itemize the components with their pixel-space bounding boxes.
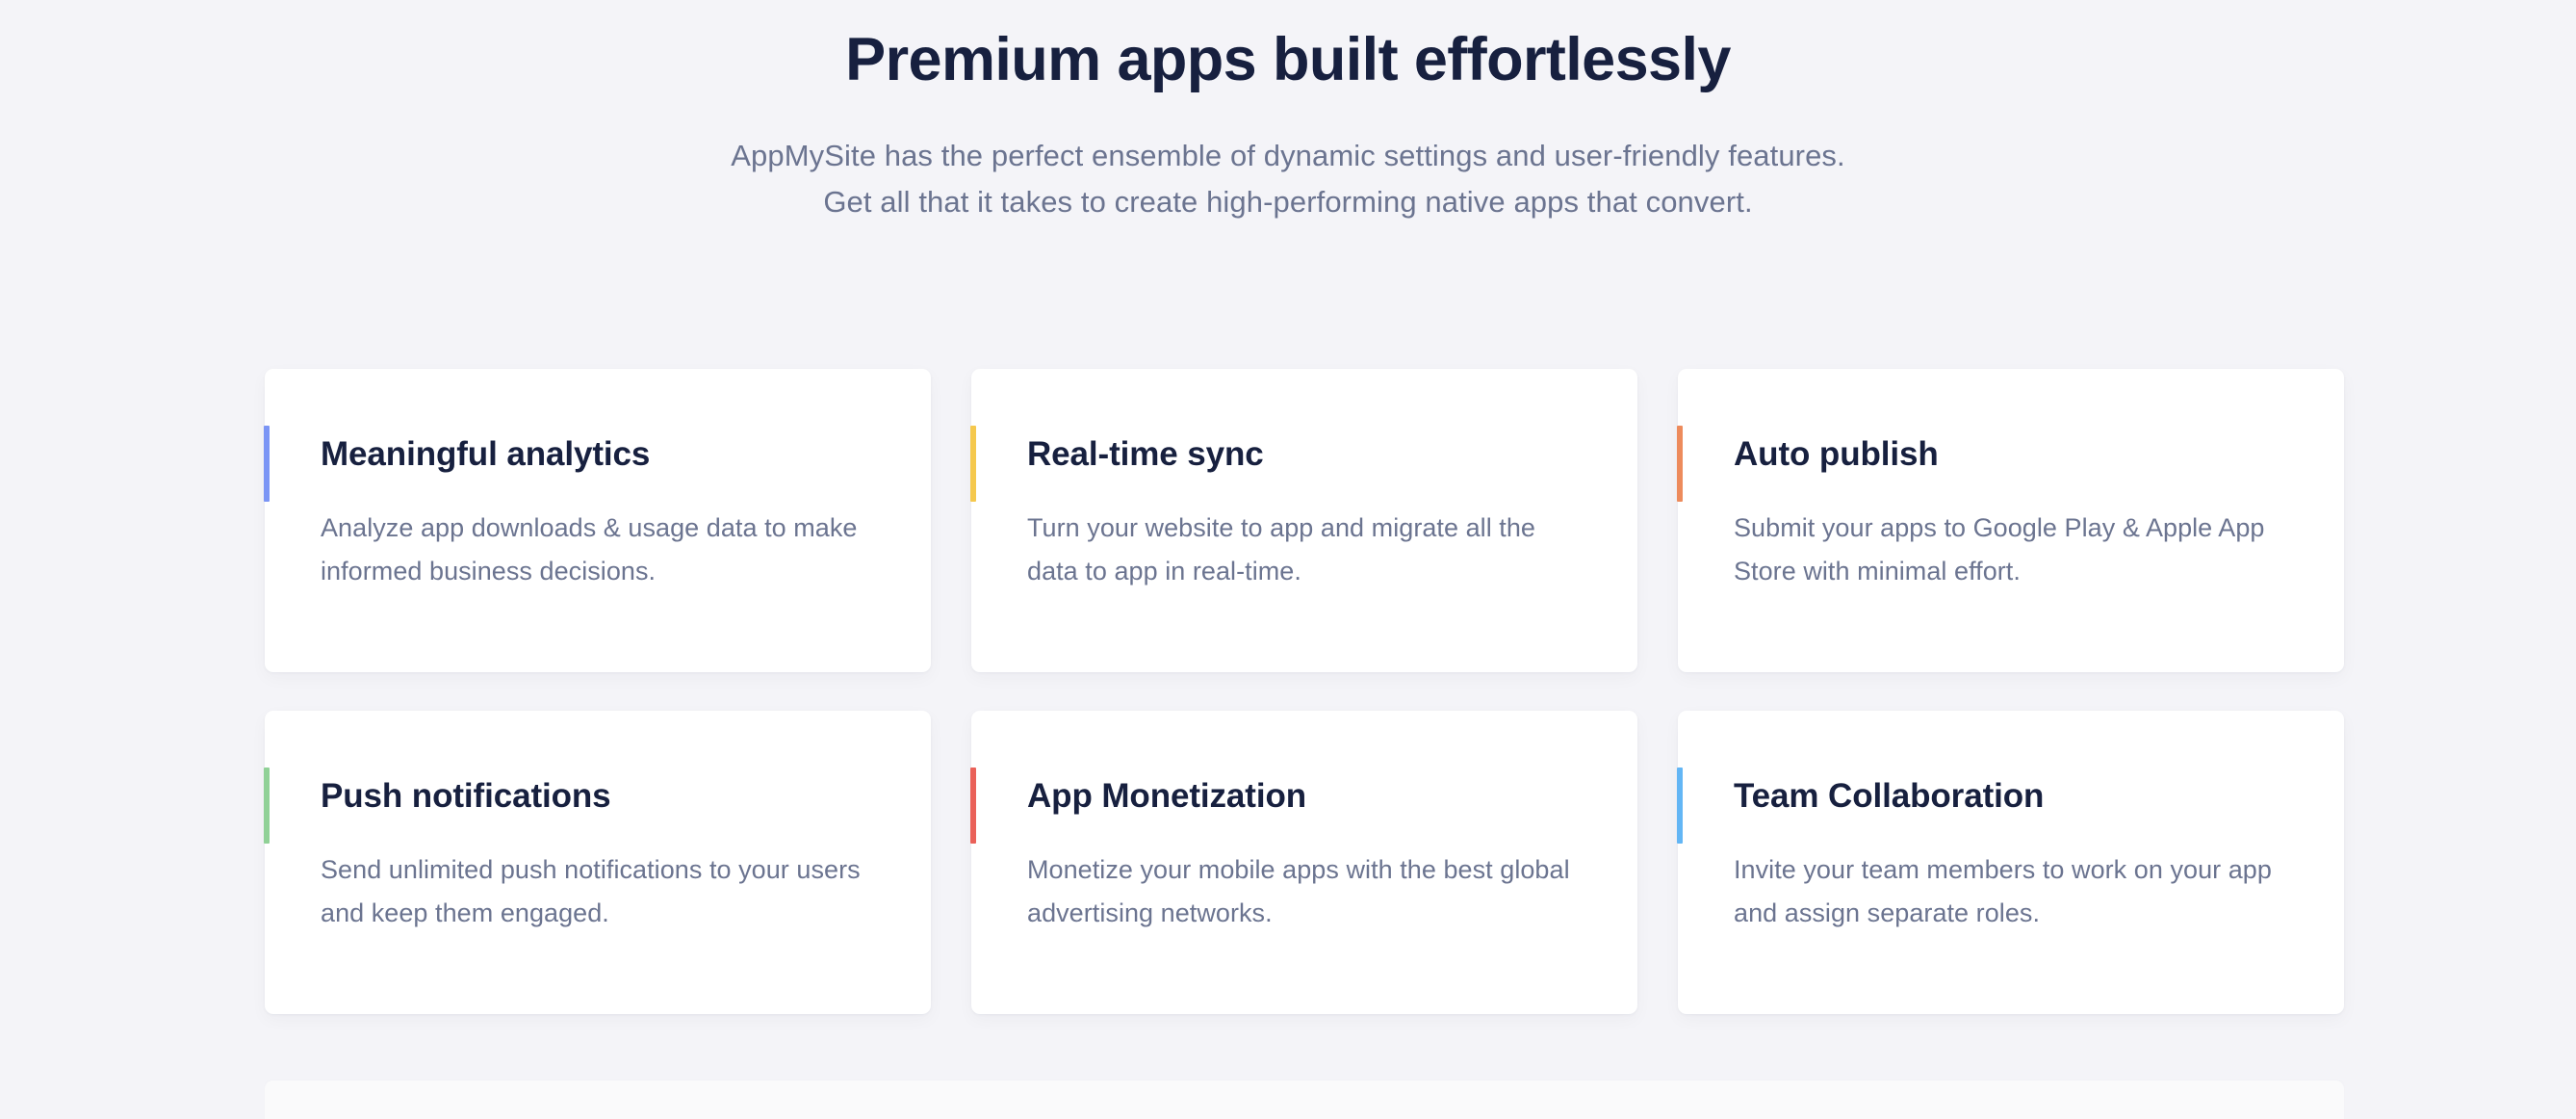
feature-card-title: Real-time sync bbox=[1027, 434, 1578, 475]
feature-card-title: Team Collaboration bbox=[1734, 776, 2284, 817]
feature-card-description: Invite your team members to work on your… bbox=[1734, 848, 2284, 935]
accent-bar-icon bbox=[264, 768, 270, 844]
page-subtitle: AppMySite has the perfect ensemble of dy… bbox=[0, 133, 2576, 223]
feature-card-meaningful-analytics[interactable]: Meaningful analytics Analyze app downloa… bbox=[265, 369, 931, 672]
section-header: Premium apps built effortlessly AppMySit… bbox=[0, 0, 2576, 224]
feature-card-description: Turn your website to app and migrate all… bbox=[1027, 507, 1578, 593]
feature-cards-grid: Meaningful analytics Analyze app downloa… bbox=[265, 369, 2344, 1014]
feature-card-description: Analyze app downloads & usage data to ma… bbox=[321, 507, 871, 593]
subtitle-line-1: AppMySite has the perfect ensemble of dy… bbox=[0, 133, 2576, 178]
page-title: Premium apps built effortlessly bbox=[0, 25, 2576, 94]
feature-card-title: Push notifications bbox=[321, 776, 871, 817]
feature-card-description: Submit your apps to Google Play & Apple … bbox=[1734, 507, 2284, 593]
subtitle-line-2: Get all that it takes to create high-per… bbox=[0, 179, 2576, 224]
accent-bar-icon bbox=[264, 426, 270, 502]
feature-card-title: App Monetization bbox=[1027, 776, 1578, 817]
accent-bar-icon bbox=[1677, 426, 1683, 502]
accent-bar-icon bbox=[1677, 768, 1683, 844]
feature-card-description: Send unlimited push notifications to you… bbox=[321, 848, 871, 935]
feature-card-app-monetization[interactable]: App Monetization Monetize your mobile ap… bbox=[971, 711, 1637, 1014]
accent-bar-icon bbox=[970, 426, 976, 502]
next-section-panel bbox=[265, 1080, 2344, 1119]
feature-card-auto-publish[interactable]: Auto publish Submit your apps to Google … bbox=[1678, 369, 2344, 672]
feature-card-real-time-sync[interactable]: Real-time sync Turn your website to app … bbox=[971, 369, 1637, 672]
feature-card-push-notifications[interactable]: Push notifications Send unlimited push n… bbox=[265, 711, 931, 1014]
feature-card-title: Meaningful analytics bbox=[321, 434, 871, 475]
accent-bar-icon bbox=[970, 768, 976, 844]
feature-card-description: Monetize your mobile apps with the best … bbox=[1027, 848, 1578, 935]
features-section: Premium apps built effortlessly AppMySit… bbox=[0, 0, 2576, 1119]
feature-card-team-collaboration[interactable]: Team Collaboration Invite your team memb… bbox=[1678, 711, 2344, 1014]
feature-card-title: Auto publish bbox=[1734, 434, 2284, 475]
